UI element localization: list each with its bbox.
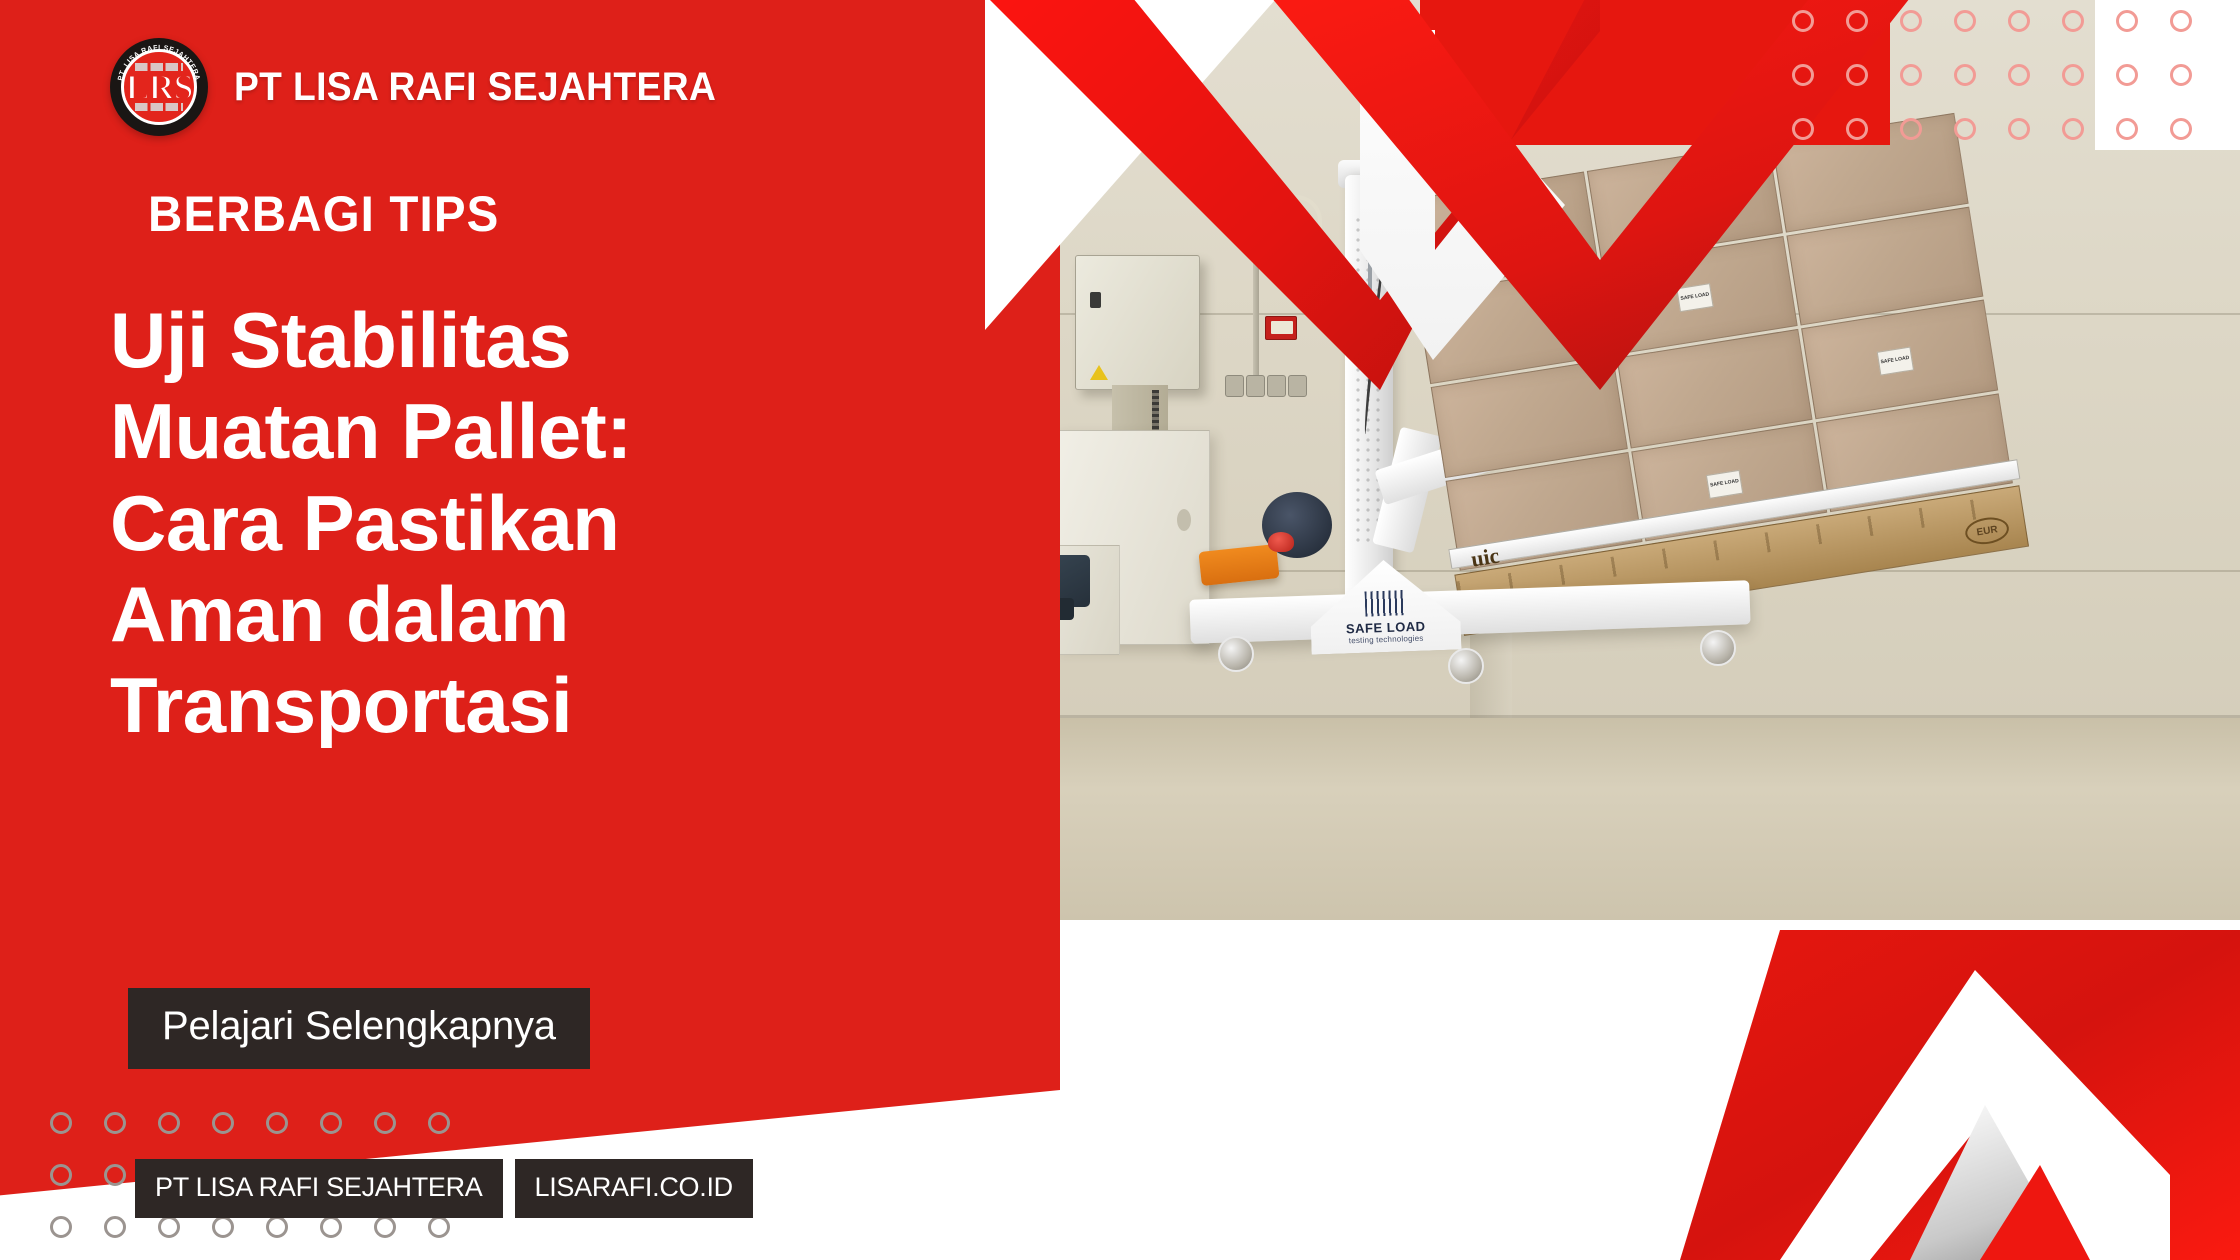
alarm-face <box>1271 321 1293 334</box>
dot <box>104 1112 126 1134</box>
dot <box>266 1112 288 1134</box>
dot <box>2116 10 2138 32</box>
cta-button[interactable]: Pelajari Selengkapnya <box>128 988 590 1069</box>
dot <box>2062 64 2084 86</box>
box-label: SAFE LOAD <box>1876 347 1913 376</box>
machine-hook-rod <box>1368 188 1372 338</box>
cabinet-latch <box>1090 292 1101 308</box>
safe-load-tagline: testing technologies <box>1349 634 1424 646</box>
pallet-load-stack: SAFE LOAD SAFE LOAD SAFE LOAD SAFE LOAD <box>1401 113 2023 635</box>
dot <box>158 1112 180 1134</box>
dot <box>374 1216 396 1238</box>
socket <box>1267 375 1286 397</box>
dot <box>212 1112 234 1134</box>
dot <box>50 1216 72 1238</box>
workshop-floor <box>1000 718 2240 920</box>
dot <box>1900 10 1922 32</box>
dot <box>1954 10 1976 32</box>
dot <box>2062 118 2084 140</box>
dot <box>2116 64 2138 86</box>
wall-cable <box>1268 195 1322 241</box>
dot <box>2116 118 2138 140</box>
box-label: SAFE LOAD <box>1676 283 1713 312</box>
dot <box>1900 118 1922 140</box>
safe-load-mark-icon <box>1364 587 1405 616</box>
company-logo: PT. LISA RAFI SEJAHTERA DISTRIBUTOR PALL… <box>110 38 208 136</box>
promo-banner: SAFE LOAD SAFE LOAD SAFE LOAD SAFE LOAD <box>0 0 2240 1260</box>
dot <box>2008 10 2030 32</box>
logo-inner-disc: LRS <box>121 49 197 125</box>
footer-company-chip: PT LISA RAFI SEJAHTERA <box>135 1159 503 1218</box>
brand-header[interactable]: PT. LISA RAFI SEJAHTERA DISTRIBUTOR PALL… <box>110 38 752 136</box>
fire-alarm-icon <box>1265 316 1297 340</box>
dot <box>104 1216 126 1238</box>
wall-sockets <box>1225 375 1307 397</box>
cabinet-knob <box>1177 509 1191 531</box>
box-label: SAFE LOAD <box>1476 219 1513 248</box>
dot <box>428 1216 450 1238</box>
dot <box>50 1112 72 1134</box>
warning-triangle-icon <box>1090 365 1108 380</box>
dot <box>1846 118 1868 140</box>
headline-line: Uji Stabilitas <box>110 295 830 386</box>
socket <box>1246 375 1265 397</box>
dot <box>1792 10 1814 32</box>
headline-line: Cara Pastikan <box>110 478 830 569</box>
electrical-cabinet <box>1075 255 1200 390</box>
dot-pattern-top-right <box>1792 10 2192 140</box>
dot <box>2008 64 2030 86</box>
machine-caster <box>1448 648 1484 684</box>
dot <box>104 1164 126 1186</box>
dot <box>2170 64 2192 86</box>
machine-caster <box>1218 636 1254 672</box>
dot <box>320 1216 342 1238</box>
dot <box>428 1112 450 1134</box>
footer-bar: PT LISA RAFI SEJAHTERA LISARAFI.CO.ID <box>135 1159 753 1218</box>
dot <box>266 1216 288 1238</box>
dot <box>2062 10 2084 32</box>
dot <box>1846 10 1868 32</box>
socket <box>1288 375 1307 397</box>
footer-website-chip[interactable]: LISARAFI.CO.ID <box>515 1159 753 1218</box>
dot <box>2170 10 2192 32</box>
page-title: Uji Stabilitas Muatan Pallet: Cara Pasti… <box>110 295 830 751</box>
dot <box>1792 118 1814 140</box>
headline-line: Aman dalam <box>110 569 830 660</box>
dot <box>1954 64 1976 86</box>
wall-conduit <box>1253 200 1259 385</box>
company-name: PT LISA RAFI SEJAHTERA <box>234 65 716 110</box>
dot <box>1846 64 1868 86</box>
socket <box>1225 375 1244 397</box>
floor-edge <box>1000 715 2240 718</box>
headline-line: Muatan Pallet: <box>110 386 830 477</box>
emergency-stop-button <box>1268 532 1294 552</box>
kicker-label: BERBAGI TIPS <box>148 185 500 243</box>
dot <box>2008 118 2030 140</box>
machine-caster <box>1700 630 1736 666</box>
dot <box>158 1216 180 1238</box>
pallet-uic-mark: uic <box>1469 543 1501 573</box>
dot <box>320 1112 342 1134</box>
logo-monogram: LRS <box>125 66 192 108</box>
box-label: SAFE LOAD <box>1706 469 1743 498</box>
dot <box>1792 64 1814 86</box>
dot <box>50 1164 72 1186</box>
dot <box>2170 118 2192 140</box>
dot <box>374 1112 396 1134</box>
dot <box>212 1216 234 1238</box>
dot <box>1900 64 1922 86</box>
headline-line: Transportasi <box>110 660 830 751</box>
dot <box>1954 118 1976 140</box>
